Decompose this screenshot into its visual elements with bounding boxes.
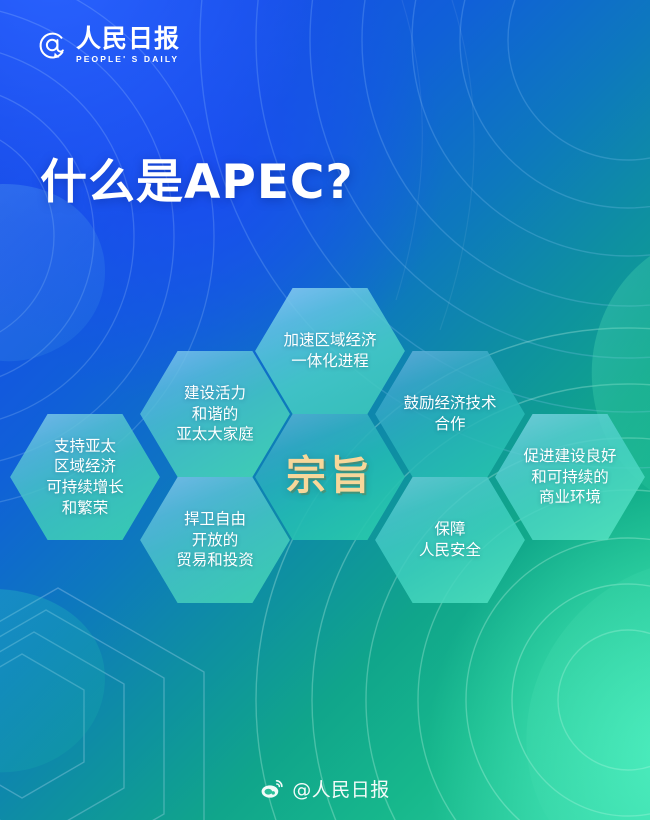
hex-label: 促进建设良好 和可持续的 商业环境 [521,446,618,508]
weibo-icon [260,779,284,799]
hex-cell-business-environment[interactable]: 促进建设良好 和可持续的 商业环境 [495,414,645,540]
hex-label: 鼓励经济技术 合作 [401,393,498,434]
footer-attribution: @人民日报 [0,775,650,802]
hex-cell-support-growth[interactable]: 支持亚太 区域经济 可持续增长 和繁荣 [10,414,160,540]
hex-label: 建设活力 和谐的 亚太大家庭 [174,383,256,445]
hex-cell-human-security[interactable]: 保障 人民安全 [375,477,525,603]
hex-center-label: 宗旨 [284,450,376,503]
hex-label: 加速区域经济 一体化进程 [281,330,378,371]
footer-handle: @人民日报 [292,775,390,802]
hex-label: 保障 人民安全 [417,519,483,560]
apec-infographic-poster: 人民日报 PEOPLE' S DAILY 什么是APEC? 支持亚太 区域经济 … [0,0,650,820]
honeycomb-diagram: 支持亚太 区域经济 可持续增长 和繁荣 建设活力 和谐的 亚太大家庭 加速区域经… [0,0,650,820]
hex-label: 支持亚太 区域经济 可持续增长 和繁荣 [44,436,126,518]
hex-label: 捍卫自由 开放的 贸易和投资 [174,509,256,571]
hex-cell-econ-tech-coop[interactable]: 鼓励经济技术 合作 [375,351,525,477]
